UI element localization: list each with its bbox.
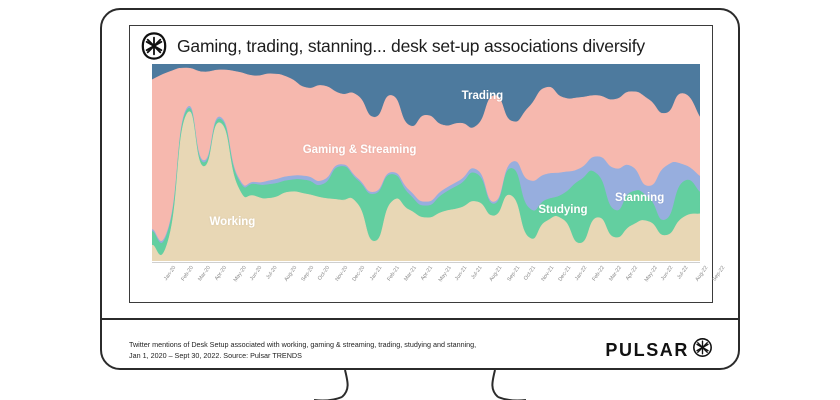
x-axis-tick: Nov-21 (540, 265, 555, 283)
monitor-stand (100, 370, 740, 400)
x-axis-tick: Jul-20 (265, 265, 278, 280)
x-axis-tick: Mar-20 (198, 265, 213, 282)
x-axis-tick: Apr-20 (214, 265, 228, 282)
x-axis-tick: Feb-20 (180, 265, 195, 282)
pulsar-asterisk-icon (140, 32, 168, 60)
x-axis-tick: Aug-20 (283, 265, 298, 283)
x-axis-tick: Aug-21 (489, 265, 504, 283)
pulsar-asterisk-icon (692, 337, 713, 358)
x-axis-tick: Jan-22 (574, 265, 588, 282)
stacked-area-plot: Trading Gaming & Streaming Working Study… (152, 64, 700, 261)
x-axis-tick: Jan-20 (163, 265, 177, 282)
stacked-area-svg (152, 64, 700, 261)
x-axis-tick: Mar-21 (403, 265, 418, 282)
x-axis-tick: Jul-22 (676, 265, 689, 280)
footer-caption-line2: Jan 1, 2020 – Sept 30, 2022. Source: Pul… (129, 350, 476, 361)
monitor-divider (102, 318, 738, 320)
x-axis-tick: Nov-20 (335, 265, 350, 283)
x-axis-tick: Oct-20 (317, 265, 331, 282)
chart-card: Gaming, trading, stanning... desk set-up… (129, 25, 713, 303)
x-axis-tick: Sep-20 (300, 265, 315, 283)
monitor-frame: Gaming, trading, stanning... desk set-up… (100, 8, 740, 370)
x-axis-tick: Oct-21 (523, 265, 537, 282)
x-axis-tick: Jan-21 (369, 265, 383, 282)
x-axis: Jan-20Feb-20Mar-20Apr-20May-20Jun-20Jul-… (152, 262, 700, 304)
x-axis-tick: Jun-21 (454, 265, 468, 282)
x-axis-tick: Feb-21 (386, 265, 401, 282)
x-axis-tick: Feb-22 (591, 265, 606, 282)
x-axis-tick: Jul-21 (471, 265, 484, 280)
x-axis-tick: Dec-20 (352, 265, 367, 283)
footer-caption-line1: Twitter mentions of Desk Setup associate… (129, 339, 476, 350)
x-axis-tick: Jun-20 (249, 265, 263, 282)
axis-line (152, 262, 700, 263)
page-title: Gaming, trading, stanning... desk set-up… (177, 36, 645, 57)
x-axis-tick: Apr-21 (420, 265, 434, 282)
brand-wordmark: PULSAR (605, 340, 689, 361)
x-axis-tick: Dec-21 (557, 265, 572, 283)
x-axis-tick: Sep-21 (506, 265, 521, 283)
x-axis-tick: May-20 (232, 265, 247, 283)
x-axis-tick: Aug-22 (694, 265, 709, 283)
x-axis-tick: May-22 (643, 265, 658, 283)
card-header: Gaming, trading, stanning... desk set-up… (130, 26, 712, 64)
x-axis-tick: Mar-22 (609, 265, 624, 282)
screenshot-stage: Gaming, trading, stanning... desk set-up… (0, 0, 840, 400)
chart-area: Trading Gaming & Streaming Working Study… (152, 64, 700, 304)
footer-caption: Twitter mentions of Desk Setup associate… (129, 339, 476, 361)
x-axis-tick: May-21 (438, 265, 453, 283)
x-axis-tick: Apr-22 (625, 265, 639, 282)
card-footer: Twitter mentions of Desk Setup associate… (129, 332, 713, 368)
x-axis-tick: Sep-22 (711, 265, 726, 283)
x-axis-tick: Jun-22 (660, 265, 674, 282)
brand-lockup: PULSAR (605, 337, 713, 364)
